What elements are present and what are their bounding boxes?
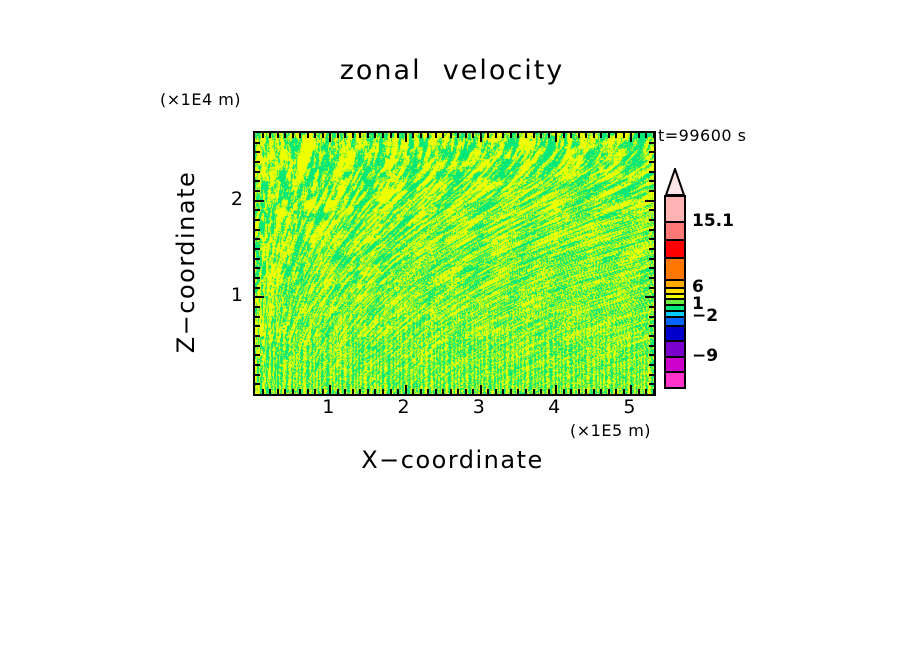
x-tick-minor <box>517 389 519 394</box>
y-axis-unit-label: (×1E4 m) <box>160 90 241 109</box>
colorbar-separator <box>664 304 686 306</box>
y-tick-right-minor <box>649 287 654 289</box>
colorbar-separator <box>664 340 686 342</box>
x-tick-minor <box>525 389 527 394</box>
y-tick-right-minor <box>649 248 654 250</box>
x-tick-label: 1 <box>322 396 334 418</box>
x-tick-top-minor <box>495 133 497 138</box>
y-tick-minor <box>255 142 260 144</box>
y-tick-minor <box>255 345 260 347</box>
y-tick-minor <box>255 335 260 337</box>
colorbar-separator <box>664 310 686 312</box>
x-tick-top-minor <box>623 133 625 138</box>
x-tick-top-minor <box>292 133 294 138</box>
y-tick-minor <box>255 316 260 318</box>
x-tick-minor <box>277 389 279 394</box>
y-axis-title: Z−coordinate <box>172 171 200 354</box>
x-tick-top-major <box>480 133 482 142</box>
y-tick-right-minor <box>649 151 654 153</box>
x-tick-major <box>630 385 632 394</box>
x-tick-minor <box>653 389 655 394</box>
x-tick-top-minor <box>593 133 595 138</box>
x-tick-minor <box>442 389 444 394</box>
x-tick-top-minor <box>435 133 437 138</box>
colorbar-separator <box>664 257 686 259</box>
y-tick-right-minor <box>649 209 654 211</box>
colorbar-separator <box>664 298 686 300</box>
y-tick-minor <box>255 374 260 376</box>
x-tick-minor <box>269 389 271 394</box>
x-tick-top-minor <box>502 133 504 138</box>
x-tick-label: 5 <box>623 396 635 418</box>
x-tick-minor <box>548 389 550 394</box>
x-axis-title: X−coordinate <box>253 446 652 474</box>
y-tick-right-minor <box>649 229 654 231</box>
x-tick-top-minor <box>367 133 369 138</box>
x-tick-top-minor <box>390 133 392 138</box>
y-tick-minor <box>255 219 260 221</box>
y-tick-minor <box>255 171 260 173</box>
x-tick-minor <box>322 389 324 394</box>
y-tick-right-minor <box>649 335 654 337</box>
x-tick-minor <box>420 389 422 394</box>
x-tick-top-minor <box>284 133 286 138</box>
y-tick-minor <box>255 238 260 240</box>
y-tick-right-minor <box>649 171 654 173</box>
colorbar-band <box>664 325 686 340</box>
y-tick-minor <box>255 277 260 279</box>
colorbar-separator <box>664 293 686 295</box>
plot-area[interactable] <box>253 131 656 396</box>
y-tick-right-minor <box>649 190 654 192</box>
x-tick-top-minor <box>548 133 550 138</box>
y-tick-right-minor <box>649 267 654 269</box>
x-tick-top-minor <box>472 133 474 138</box>
time-annotation: t=99600 s <box>658 126 747 145</box>
x-tick-top-minor <box>420 133 422 138</box>
y-tick-right-minor <box>649 374 654 376</box>
x-tick-minor <box>352 389 354 394</box>
y-tick-right-minor <box>649 354 654 356</box>
x-tick-major <box>480 385 482 394</box>
x-tick-top-minor <box>397 133 399 138</box>
x-tick-top-minor <box>615 133 617 138</box>
colorbar-band <box>664 340 686 355</box>
x-tick-label: 4 <box>548 396 560 418</box>
x-tick-minor <box>435 389 437 394</box>
x-tick-top-minor <box>269 133 271 138</box>
x-tick-top-minor <box>314 133 316 138</box>
y-tick-minor <box>255 229 260 231</box>
y-tick-right-minor <box>649 142 654 144</box>
x-tick-top-minor <box>322 133 324 138</box>
x-tick-minor <box>262 389 264 394</box>
x-tick-minor <box>472 389 474 394</box>
y-tick-minor <box>255 161 260 163</box>
x-tick-minor <box>623 389 625 394</box>
x-tick-minor <box>533 389 535 394</box>
colorbar-separator <box>664 239 686 241</box>
y-tick-right-minor <box>649 258 654 260</box>
y-tick-right-minor <box>649 219 654 221</box>
x-tick-minor <box>412 389 414 394</box>
y-tick-right-minor <box>649 238 654 240</box>
x-tick-minor <box>570 389 572 394</box>
x-tick-minor <box>593 389 595 394</box>
colorbar-band <box>664 356 686 371</box>
x-tick-minor <box>292 389 294 394</box>
colorbar-arrow-svg <box>664 168 686 196</box>
colorbar-tick-label: −2 <box>692 306 718 326</box>
colorbar-separator <box>664 221 686 223</box>
y-tick-minor <box>255 248 260 250</box>
x-tick-minor <box>390 389 392 394</box>
heatmap-field <box>255 133 654 394</box>
x-tick-top-minor <box>578 133 580 138</box>
x-tick-minor <box>367 389 369 394</box>
x-tick-top-minor <box>533 133 535 138</box>
y-tick-right-minor <box>649 277 654 279</box>
colorbar-tick-label: −9 <box>692 346 718 366</box>
x-tick-top-minor <box>525 133 527 138</box>
x-tick-top-minor <box>450 133 452 138</box>
x-tick-top-minor <box>457 133 459 138</box>
colorbar-separator <box>664 356 686 358</box>
y-tick-minor <box>255 151 260 153</box>
x-tick-top-minor <box>510 133 512 138</box>
y-tick-right-minor <box>649 383 654 385</box>
y-tick-major <box>255 200 264 202</box>
y-tick-minor <box>255 180 260 182</box>
y-tick-minor <box>255 209 260 211</box>
x-tick-top-minor <box>427 133 429 138</box>
x-tick-minor <box>578 389 580 394</box>
x-tick-top-minor <box>382 133 384 138</box>
x-tick-minor <box>457 389 459 394</box>
y-tick-major <box>255 296 264 298</box>
y-tick-minor <box>255 190 260 192</box>
x-tick-minor <box>450 389 452 394</box>
colorbar-separator <box>664 316 686 318</box>
x-tick-minor <box>585 389 587 394</box>
x-tick-top-minor <box>600 133 602 138</box>
x-tick-minor <box>465 389 467 394</box>
x-tick-minor <box>314 389 316 394</box>
x-tick-major <box>405 385 407 394</box>
x-tick-minor <box>299 389 301 394</box>
colorbar-band <box>664 257 686 279</box>
x-tick-label: 2 <box>398 396 410 418</box>
x-tick-minor <box>427 389 429 394</box>
x-tick-top-minor <box>359 133 361 138</box>
x-tick-minor <box>502 389 504 394</box>
x-tick-top-minor <box>608 133 610 138</box>
x-tick-top-minor <box>307 133 309 138</box>
x-tick-top-minor <box>645 133 647 138</box>
x-tick-top-minor <box>487 133 489 138</box>
colorbar-separator <box>664 279 686 281</box>
colorbar-separator <box>664 371 686 373</box>
x-tick-top-minor <box>299 133 301 138</box>
x-tick-top-minor <box>337 133 339 138</box>
x-tick-major <box>555 385 557 394</box>
y-tick-minor <box>255 325 260 327</box>
y-tick-minor <box>255 364 260 366</box>
x-tick-top-major <box>329 133 331 142</box>
x-tick-top-major <box>405 133 407 142</box>
colorbar-band <box>664 371 686 389</box>
colorbar-separator <box>664 287 686 289</box>
colorbar-band <box>664 221 686 239</box>
x-tick-minor <box>638 389 640 394</box>
y-tick-right-minor <box>649 316 654 318</box>
x-tick-top-minor <box>465 133 467 138</box>
x-tick-top-minor <box>540 133 542 138</box>
x-tick-top-major <box>555 133 557 142</box>
colorbar-arrow-icon <box>664 168 686 196</box>
x-tick-top-minor <box>585 133 587 138</box>
x-tick-minor <box>359 389 361 394</box>
colorbar-tick-label: 15.1 <box>692 211 734 231</box>
x-tick-minor <box>645 389 647 394</box>
x-tick-minor <box>374 389 376 394</box>
x-tick-minor <box>284 389 286 394</box>
y-tick-label: 2 <box>225 188 243 210</box>
colorbar-band <box>664 195 686 221</box>
x-tick-top-minor <box>352 133 354 138</box>
colorbar-band <box>664 239 686 257</box>
x-tick-minor <box>307 389 309 394</box>
x-tick-top-minor <box>262 133 264 138</box>
x-tick-minor <box>487 389 489 394</box>
y-tick-minor <box>255 383 260 385</box>
x-tick-top-minor <box>412 133 414 138</box>
x-tick-top-minor <box>653 133 655 138</box>
y-tick-label: 1 <box>225 284 243 306</box>
x-tick-major <box>329 385 331 394</box>
x-tick-top-major <box>630 133 632 142</box>
y-tick-minor <box>255 354 260 356</box>
colorbar-separator <box>664 325 686 327</box>
y-tick-minor <box>255 287 260 289</box>
x-tick-minor <box>540 389 542 394</box>
y-tick-right-minor <box>649 306 654 308</box>
y-tick-right-minor <box>649 325 654 327</box>
x-tick-top-minor <box>563 133 565 138</box>
x-tick-top-minor <box>517 133 519 138</box>
colorbar[interactable] <box>664 195 686 389</box>
x-tick-minor <box>608 389 610 394</box>
x-tick-minor <box>344 389 346 394</box>
y-tick-right-minor <box>649 161 654 163</box>
x-tick-top-minor <box>638 133 640 138</box>
x-tick-minor <box>600 389 602 394</box>
x-tick-label: 3 <box>473 396 485 418</box>
figure-canvas: zonal velocity (×1E4 m) t=99600 s 12345 … <box>0 0 904 654</box>
x-tick-minor <box>615 389 617 394</box>
x-tick-minor <box>495 389 497 394</box>
y-tick-right-minor <box>649 345 654 347</box>
page-title: zonal velocity <box>0 55 904 86</box>
y-tick-right-major <box>645 296 654 298</box>
x-tick-top-minor <box>277 133 279 138</box>
x-tick-top-minor <box>570 133 572 138</box>
x-tick-minor <box>563 389 565 394</box>
x-tick-top-minor <box>344 133 346 138</box>
y-tick-right-major <box>645 200 654 202</box>
y-tick-right-minor <box>649 180 654 182</box>
x-tick-minor <box>510 389 512 394</box>
x-tick-top-minor <box>442 133 444 138</box>
y-tick-minor <box>255 306 260 308</box>
x-tick-minor <box>397 389 399 394</box>
x-tick-minor <box>382 389 384 394</box>
x-tick-minor <box>337 389 339 394</box>
x-tick-top-minor <box>374 133 376 138</box>
x-axis-unit-label: (×1E5 m) <box>570 421 651 440</box>
y-tick-right-minor <box>649 364 654 366</box>
y-tick-minor <box>255 267 260 269</box>
y-tick-minor <box>255 258 260 260</box>
